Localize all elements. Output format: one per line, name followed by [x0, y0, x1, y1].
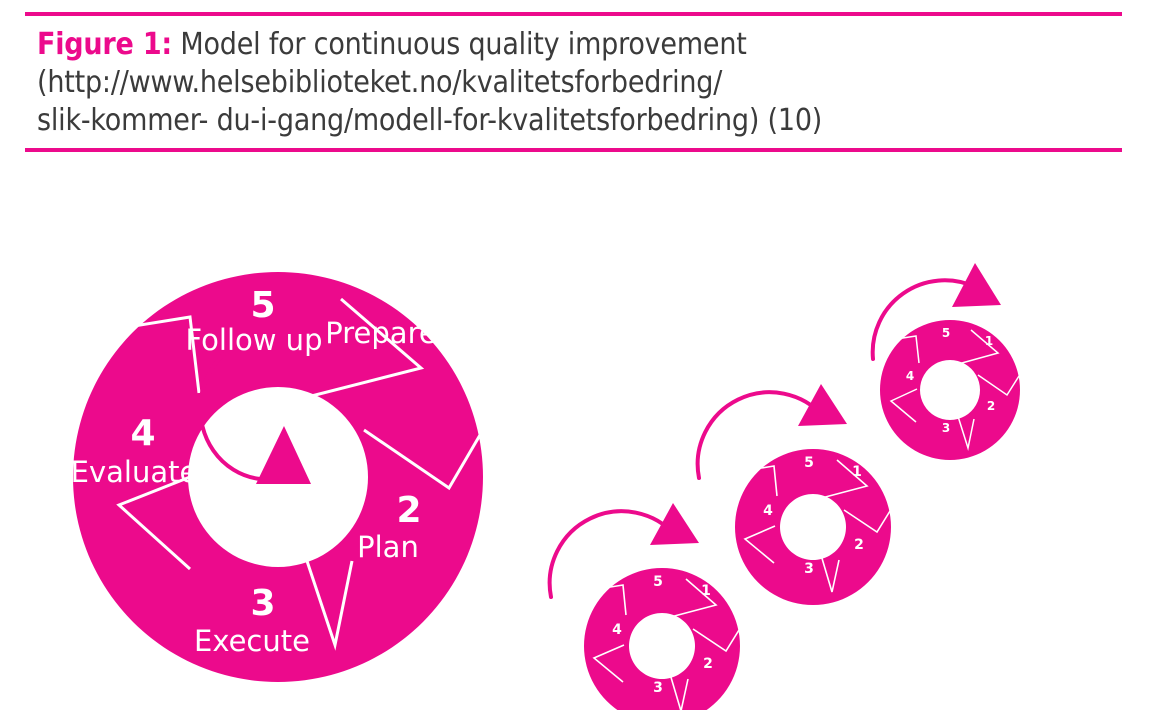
main-segment-5-label: Follow up: [186, 323, 323, 357]
mini3-number-3: 3: [942, 421, 950, 435]
mini-wheel-cycle-2: 1 2 3 4 5: [730, 449, 891, 605]
caption-line-3: slik-kommer- du-i-gang/modell-for-kvalit…: [37, 102, 1112, 140]
mini2-number-5: 5: [804, 455, 814, 471]
mini2-number-3: 3: [804, 561, 814, 577]
main-segment-3-label: Execute: [194, 624, 310, 658]
main-segment-3-number: 3: [250, 583, 275, 624]
caption-line-1-text: Model for continuous quality improvement: [172, 27, 747, 62]
mini1-number-2: 2: [703, 656, 713, 672]
caption-line-2: (http://www.helsebiblioteket.no/kvalitet…: [37, 64, 1112, 102]
mini1-number-3: 3: [653, 680, 663, 696]
mini1-number-4: 4: [612, 622, 622, 638]
mini1-number-5: 5: [653, 574, 663, 590]
mini1-number-1: 1: [701, 583, 711, 599]
mini3-number-1: 1: [985, 334, 993, 348]
figure-number-label: Figure 1:: [37, 27, 172, 62]
mini-wheel-cycle-1: 1 2 3 4 5: [579, 568, 740, 710]
main-segment-1-label: Prepare: [325, 316, 436, 350]
caption-line-1: Figure 1: Model for continuous quality i…: [37, 26, 1112, 64]
mini3-number-4: 4: [906, 369, 914, 383]
figure-caption-text: Figure 1: Model for continuous quality i…: [25, 16, 1122, 148]
main-segment-4-number: 4: [130, 413, 155, 454]
mini-wheel-2-donut-body: [735, 449, 891, 605]
main-quality-wheel: 1 Prepare 2 Plan 3 Execute 4 Evaluate 5 …: [71, 272, 483, 682]
main-segment-2-label: Plan: [357, 530, 419, 564]
mini-wheel-cycle-3: 1 2 3 4 5: [877, 320, 1020, 460]
mini2-number-4: 4: [763, 503, 773, 519]
figure-graphic-area: 1 Prepare 2 Plan 3 Execute 4 Evaluate 5 …: [0, 195, 1152, 710]
main-segment-2-number: 2: [396, 490, 421, 531]
main-segment-4-label: Evaluate: [71, 455, 198, 489]
main-segment-1-number: 1: [390, 276, 415, 317]
figure-caption-block: Figure 1: Model for continuous quality i…: [25, 12, 1122, 152]
mini2-number-2: 2: [854, 537, 864, 553]
mini2-number-1: 1: [852, 464, 862, 480]
caption-rule-bottom: [25, 148, 1122, 152]
mini3-number-2: 2: [987, 399, 995, 413]
mini3-number-5: 5: [942, 326, 950, 340]
main-segment-5-number: 5: [250, 285, 275, 326]
